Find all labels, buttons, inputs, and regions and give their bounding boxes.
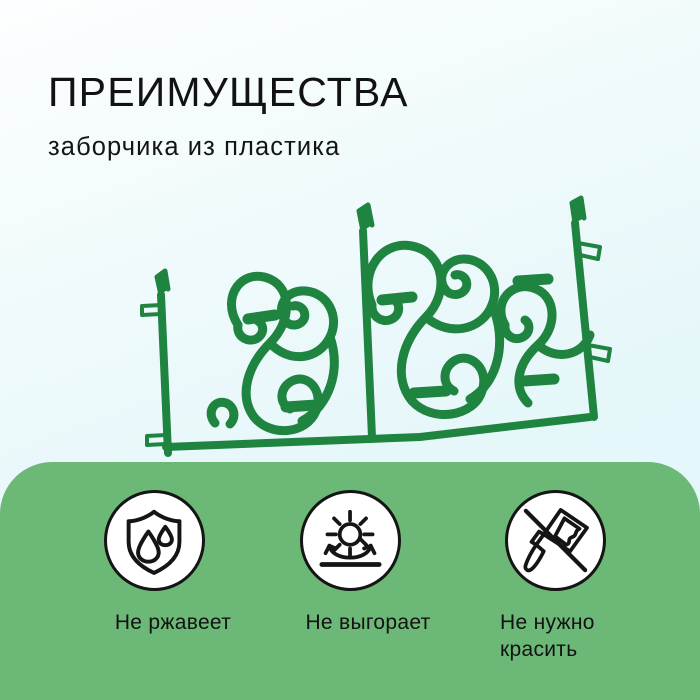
no-paint-brush-icon xyxy=(505,490,606,591)
benefit-label-no-fading: Не выгорает xyxy=(268,609,468,636)
benefits-panel: Не ржавеет xyxy=(0,462,700,700)
benefit-label-line-1: Не нужно xyxy=(500,609,688,636)
page-title: ПРЕИМУЩЕСТВА xyxy=(48,72,409,113)
benefit-item-no-painting: Не нужно красить xyxy=(478,490,688,664)
benefit-label-line-2: красить xyxy=(500,636,688,663)
shield-water-drop-icon xyxy=(104,490,205,591)
sun-uv-reflect-icon xyxy=(300,490,401,591)
fence-illustration xyxy=(120,185,630,460)
benefit-item-no-fading: Не выгорает xyxy=(268,490,468,636)
promo-poster: ПРЕИМУЩЕСТВА заборчика из пластика xyxy=(0,0,700,700)
benefit-item-no-rust: Не ржавеет xyxy=(78,490,268,636)
fence-graphic xyxy=(120,185,630,460)
benefit-label-no-painting: Не нужно красить xyxy=(478,609,688,664)
benefit-label-no-rust: Не ржавеет xyxy=(78,609,268,636)
page-subtitle: заборчика из пластика xyxy=(48,135,340,161)
